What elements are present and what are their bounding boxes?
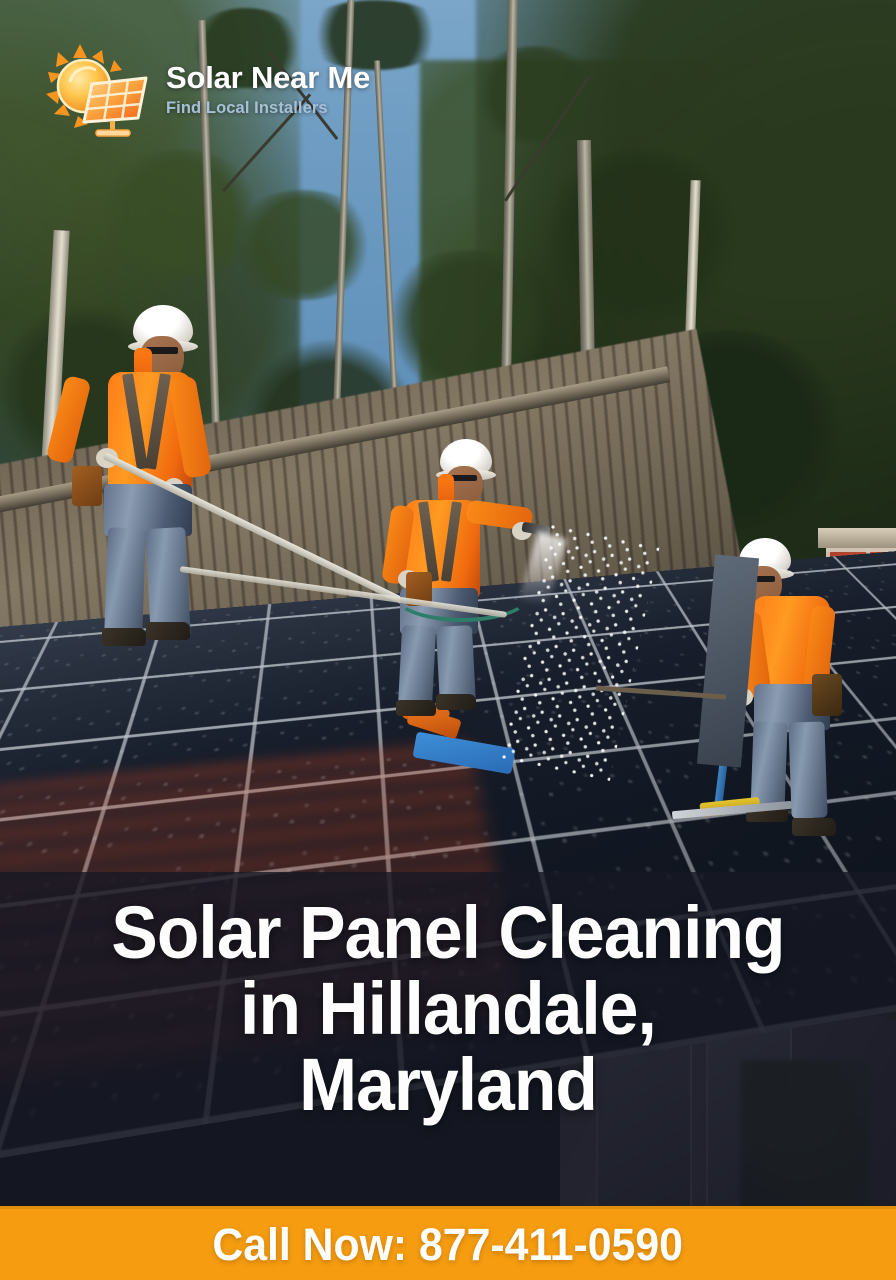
leaf-clump bbox=[540, 150, 740, 320]
worker-leg bbox=[788, 721, 827, 818]
work-boot bbox=[792, 818, 836, 836]
headline-line-1: Solar Panel Cleaning bbox=[111, 891, 784, 974]
tool-pouch bbox=[72, 466, 102, 506]
safety-glasses-icon bbox=[450, 475, 477, 481]
tool-belt bbox=[812, 674, 842, 716]
sun-solar-panel-icon bbox=[44, 42, 152, 138]
leaf-clump bbox=[470, 46, 600, 142]
brand-name: Solar Near Me bbox=[166, 62, 370, 95]
call-now-bar[interactable]: Call Now: 877-411-0590 bbox=[0, 1206, 896, 1280]
headline-line-3: Maryland bbox=[299, 1043, 597, 1126]
brand-logo[interactable]: Solar Near Me Find Local Installers bbox=[44, 42, 370, 138]
brand-text: Solar Near Me Find Local Installers bbox=[166, 62, 370, 118]
brand-tagline: Find Local Installers bbox=[166, 99, 370, 118]
worker-leg bbox=[398, 625, 436, 711]
worker-leg bbox=[104, 527, 146, 640]
call-now-label[interactable]: Call Now: 877-411-0590 bbox=[213, 1219, 684, 1271]
chimney-cap bbox=[818, 528, 896, 548]
page-title: Solar Panel Cleaning in Hillandale, Mary… bbox=[27, 895, 869, 1124]
water-hose bbox=[392, 566, 532, 622]
solar-cleaning-hero-poster: Solar Near Me Find Local Installers Sola… bbox=[0, 0, 896, 1280]
work-boot bbox=[146, 622, 190, 640]
work-boot bbox=[396, 700, 436, 716]
work-boot bbox=[102, 628, 146, 646]
work-boot bbox=[436, 694, 476, 710]
headline-line-2: in Hillandale, bbox=[240, 967, 656, 1050]
